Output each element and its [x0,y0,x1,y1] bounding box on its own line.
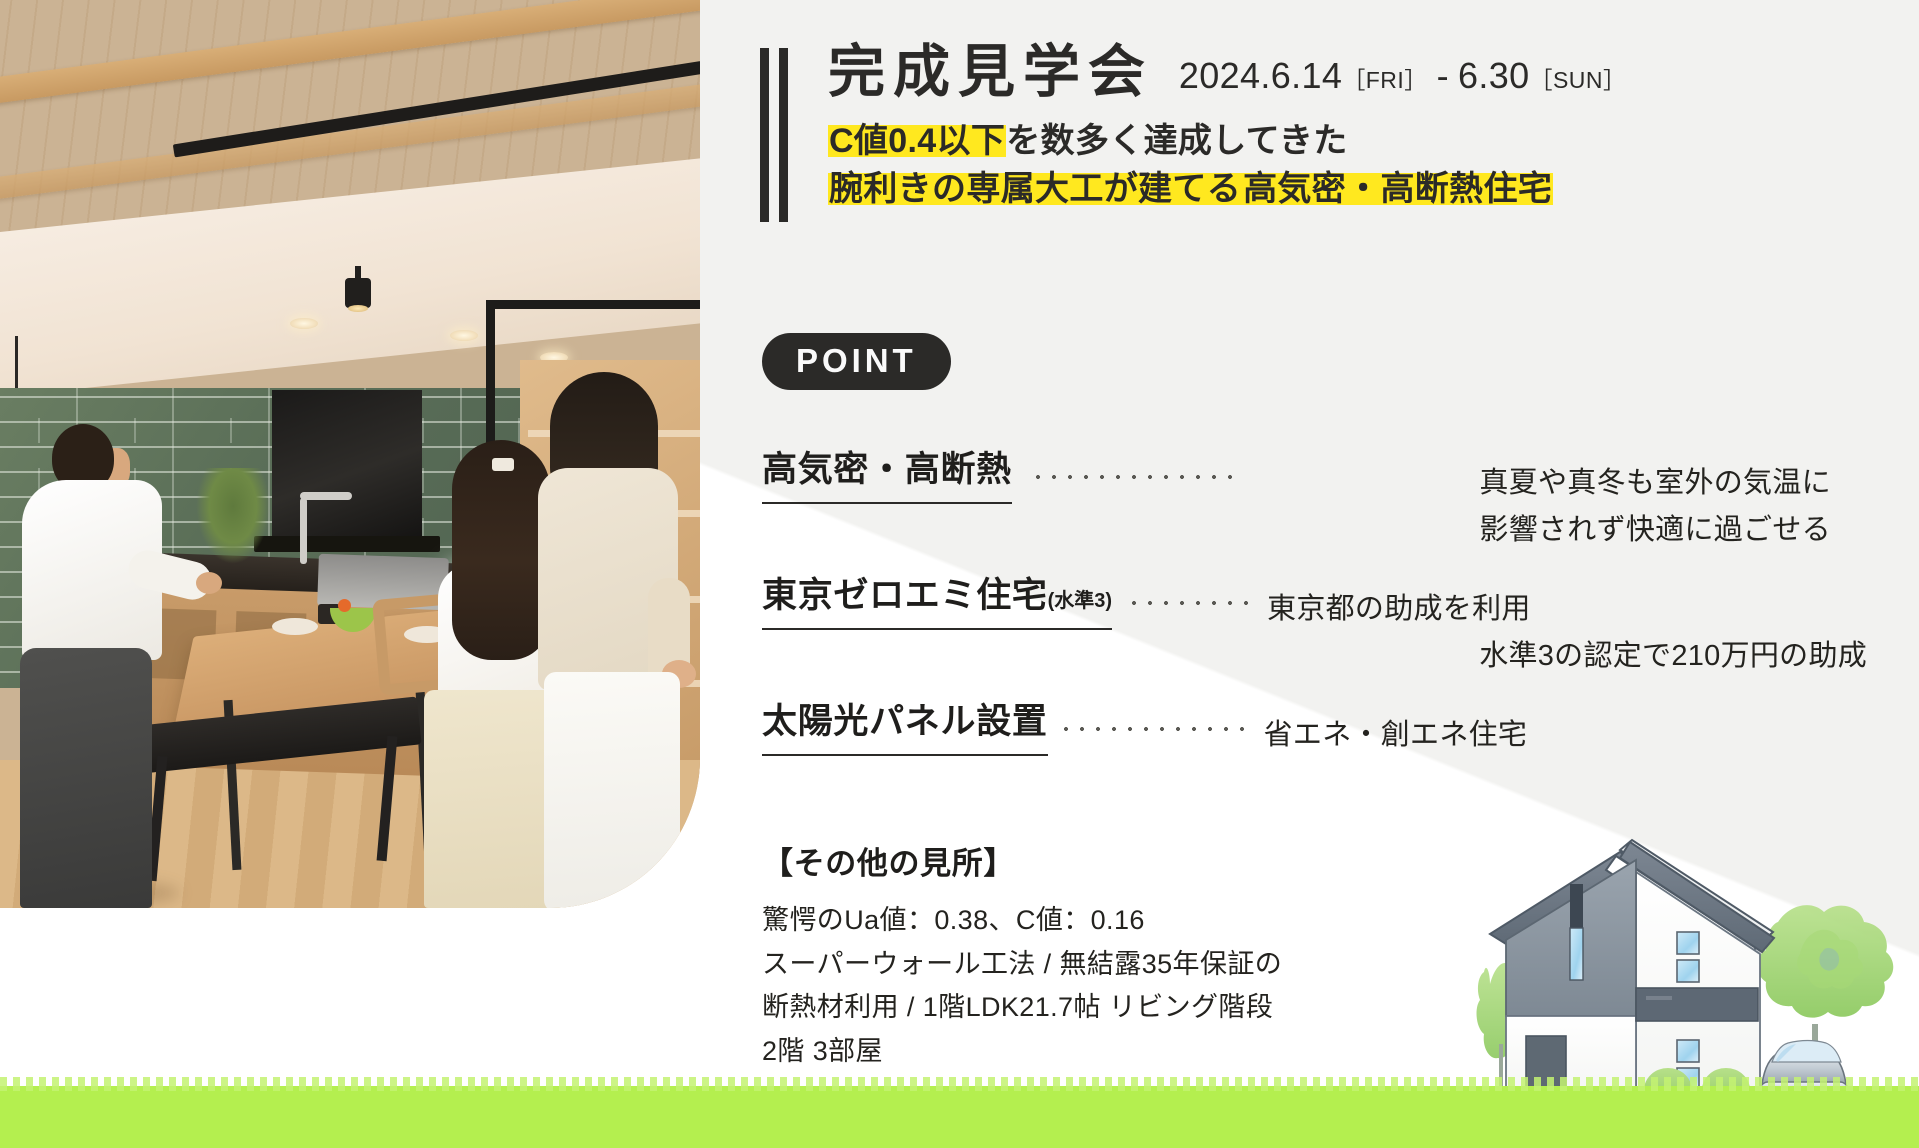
page-title: 完成見学会 [828,44,1153,101]
point-term: 高気密・高断熱 [762,452,1012,504]
point-row: 太陽光パネル設置 省エネ・創エネ住宅 [762,704,1892,759]
subtitle-line-2: 腕利きの専属大工が建てる高気密・高断熱住宅 [828,165,1860,213]
hand [196,572,222,594]
date-dash: - [1428,55,1458,96]
point-desc-line-1: 真夏や真冬も室外の気温に [1251,460,1831,507]
content-column: 完成見学会 2024.6.14［FRI］-6.30［SUN］ C値0.4以下を数… [700,0,1919,1148]
potted-plant [196,468,270,564]
kitchen-interior-photo [0,0,700,908]
point-term-text: 東京ゼロエミ住宅 [762,576,1048,615]
point-desc-line-1: 省エネ・創エネ住宅 [1264,712,1864,759]
dow-end: ［SUN］ [1530,67,1627,93]
other-highlights-line-2: スーパーウォール工法 / 無結露35年保証の [762,943,1402,987]
subtitle-highlight-2: 高気密・高断熱住宅 [1242,170,1553,208]
other-highlights-heading: 【その他の見所】 [762,838,1402,883]
other-highlights-line-4: 2階 3部屋 [762,1030,1402,1074]
point-term-text: 高気密・高断熱 [762,450,1012,489]
track-lamp-icon [345,278,371,308]
dotted-leader [1030,474,1235,480]
point-description: 東京都の助成を利用 水準3の認定で210万円の助成 [1267,578,1867,680]
downlight-icon [290,318,318,329]
dotted-leader [1058,726,1248,732]
downlight-icon [450,330,478,341]
other-highlights-line-1: 驚愕のUa値：0.38、C値：0.16 [762,899,1402,943]
event-title-row: 完成見学会 2024.6.14［FRI］-6.30［SUN］ [760,44,1860,101]
tableware-plate [272,618,318,635]
white-trousers [544,672,680,908]
poster-canvas: 完成見学会 2024.6.14［FRI］-6.30［SUN］ C値0.4以下を数… [0,0,1919,1148]
faucet-icon [300,498,307,564]
range-hood [272,390,422,540]
black-door-frame-top [486,300,700,309]
event-date-range: 2024.6.14［FRI］-6.30［SUN］ [1179,55,1627,101]
point-row: 東京ゼロエミ住宅(水準3) 東京都の助成を利用 水準3の認定で210万円の助成 [762,578,1892,680]
point-description: 省エネ・創エネ住宅 [1264,704,1864,759]
long-hair [452,440,550,660]
other-highlights-block: 【その他の見所】 驚愕のUa値：0.38、C値：0.16 スーパーウォール工法 … [762,838,1402,1074]
point-desc-line-2: 影響されず快適に過ごせる [1251,507,1831,554]
point-row: 高気密・高断熱 真夏や真冬も室外の気温に 影響されず快適に過ごせる [762,452,1892,554]
subtitle-rest-1: を数多く達成してきた [1006,122,1347,160]
grass-strip [0,1086,1919,1148]
point-term: 東京ゼロエミ住宅(水準3) [762,578,1112,630]
subtitle-line-1: C値0.4以下を数多く達成してきた [828,117,1860,165]
photo-scene [0,0,700,908]
point-term-note: (水準3) [1048,590,1112,612]
point-badge: POINT [762,333,951,390]
event-subtitle: C値0.4以下を数多く達成してきた 腕利きの専属大工が建てる高気密・高断熱住宅 [760,117,1860,214]
hair-clip [492,458,514,471]
subtitle-plain-2: 腕利きの専属大工が建てる [828,170,1242,208]
dow-start: ［FRI］ [1342,67,1427,93]
point-desc-line-2: 水準3の認定で210万円の助成 [1267,633,1867,680]
event-header: 完成見学会 2024.6.14［FRI］-6.30［SUN］ C値0.4以下を数… [760,44,1860,214]
date-start: 2024.6.14 [1179,55,1342,96]
other-highlights-line-3: 断熱材利用 / 1階LDK21.7帖 リビング階段 [762,986,1402,1030]
subtitle-highlight-1: C値0.4以下 [828,122,1006,160]
double-bar-accent [760,48,796,222]
date-end: 6.30 [1458,55,1530,96]
point-desc-line-1: 東京都の助成を利用 [1267,586,1867,633]
point-term: 太陽光パネル設置 [762,704,1048,756]
dotted-leader [1126,600,1251,606]
point-list: 高気密・高断熱 真夏や真冬も室外の気温に 影響されず快適に過ごせる 東京ゼロエミ… [762,452,1892,783]
trousers [20,648,152,908]
point-term-text: 太陽光パネル設置 [762,702,1048,741]
point-description: 真夏や真冬も室外の気温に 影響されず快適に過ごせる [1251,452,1831,554]
